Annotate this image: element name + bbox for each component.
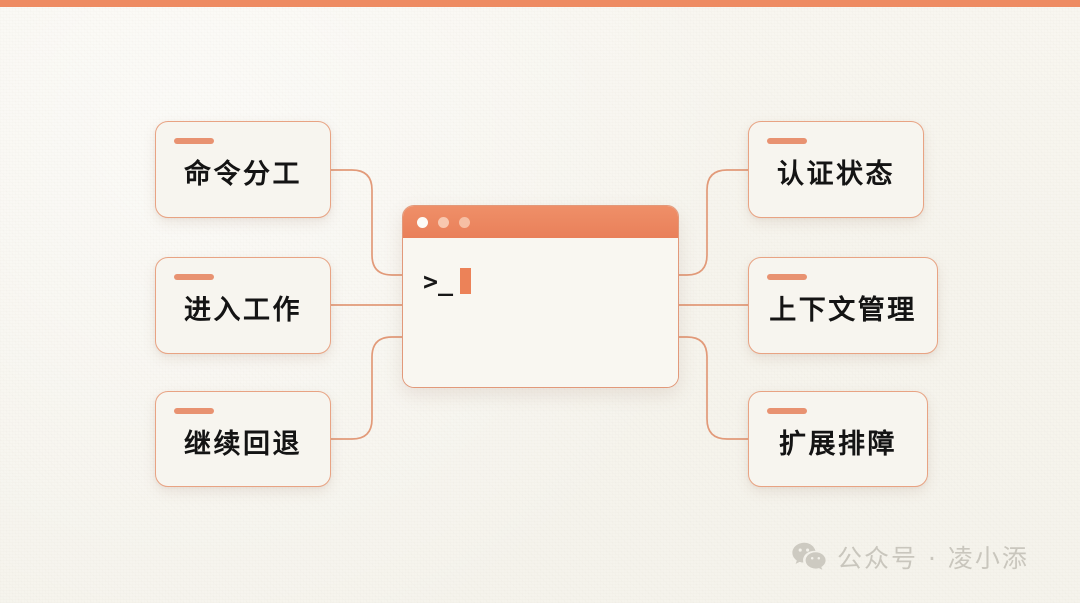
text-cursor (460, 268, 471, 294)
window-maximize-dot-icon[interactable] (459, 217, 470, 228)
accent-bar-icon (174, 274, 214, 280)
watermark-text: 公众号 · 凌小添 (837, 539, 1029, 575)
terminal-window[interactable]: >_ (402, 205, 679, 388)
prompt-symbol: >_ (423, 269, 453, 294)
terminal-title-bar (403, 206, 678, 238)
node-card-right-2[interactable]: 上下文管理 (748, 257, 938, 354)
node-card-right-1[interactable]: 认证状态 (748, 121, 924, 218)
accent-bar-icon (174, 408, 214, 414)
watermark: 公众号 · 凌小添 (792, 539, 1029, 575)
accent-bar-icon (174, 138, 214, 144)
accent-bar-icon (767, 408, 807, 414)
node-label: 扩展排障 (779, 431, 897, 458)
node-card-left-3[interactable]: 继续回退 (155, 391, 331, 487)
node-label: 认证状态 (777, 161, 895, 188)
node-label: 进入工作 (184, 297, 302, 324)
terminal-body[interactable]: >_ (403, 238, 678, 387)
node-card-left-2[interactable]: 进入工作 (155, 257, 331, 354)
connector-left-bottom (331, 337, 402, 439)
connector-right-top (679, 170, 748, 275)
connector-right-bottom (679, 337, 748, 439)
node-label: 命令分工 (184, 161, 302, 188)
window-minimize-dot-icon[interactable] (438, 217, 449, 228)
window-close-dot-icon[interactable] (417, 217, 428, 228)
terminal-prompt-line: >_ (423, 268, 471, 294)
wechat-icon (792, 542, 826, 572)
node-label: 继续回退 (184, 431, 302, 458)
accent-bar-icon (767, 274, 807, 280)
node-label: 上下文管理 (769, 297, 917, 324)
node-card-right-3[interactable]: 扩展排障 (748, 391, 928, 487)
node-card-left-1[interactable]: 命令分工 (155, 121, 331, 218)
accent-bar-icon (767, 138, 807, 144)
connector-left-top (331, 170, 402, 275)
diagram-canvas: 命令分工 进入工作 继续回退 认证状态 上下文管理 扩展排障 >_ (0, 0, 1080, 603)
